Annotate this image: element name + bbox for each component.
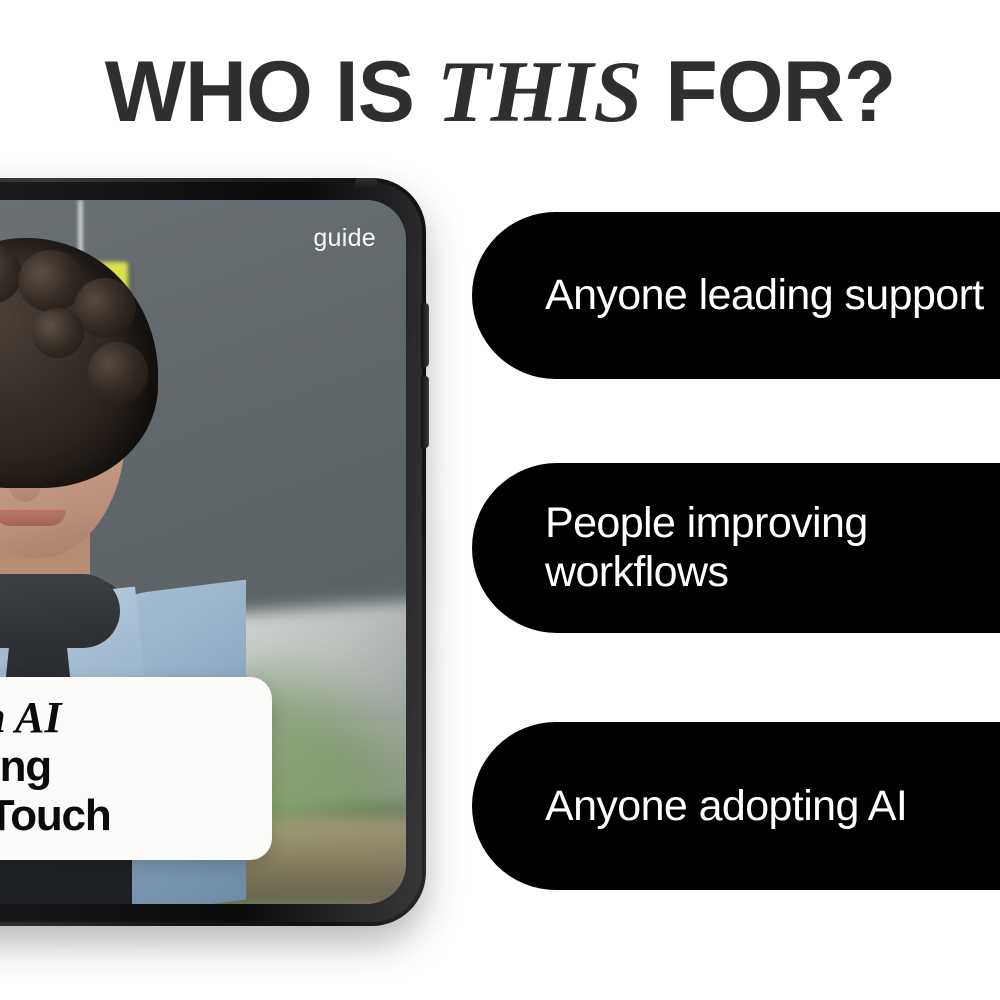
audience-pill-3-label: Anyone adopting AI [545,782,907,831]
device-screen: guide Support With AI Without Losing The… [0,200,406,904]
page-title: WHO IS THIS FOR? [0,44,1000,141]
volume-down-button[interactable] [421,376,429,448]
audience-pill-2-label: People improving workflows [545,499,992,597]
caption-line-3: The Human Touch [0,791,250,840]
caption-line-1-emphasis: With AI [0,693,62,742]
caption-line-2: Without Losing [0,742,250,791]
hair-curl [32,308,84,358]
volume-up-button[interactable] [421,303,429,367]
caption-card: Support With AI Without Losing The Human… [0,677,272,860]
audience-pill-1[interactable]: Anyone leading support [472,212,1000,379]
audience-pill-3[interactable]: Anyone adopting AI [472,722,1000,890]
headline-suffix: FOR? [642,44,895,140]
audience-pill-1-label: Anyone leading support [545,271,984,320]
camera-bump-icon [355,178,377,190]
headline-prefix: WHO IS [105,44,437,140]
guide-watermark: guide [313,224,376,253]
hair-curl [88,342,148,404]
turtleneck-collar [0,574,120,648]
poster-canvas: WHO IS THIS FOR? [0,0,1000,1000]
caption-line-1: Support With AI [0,693,250,742]
mouth [0,510,66,526]
audience-pill-2[interactable]: People improving workflows [472,463,1000,633]
device-mockup: guide Support With AI Without Losing The… [0,170,440,940]
headline-emphasis: THIS [437,44,642,141]
device-frame: guide Support With AI Without Losing The… [0,178,426,926]
